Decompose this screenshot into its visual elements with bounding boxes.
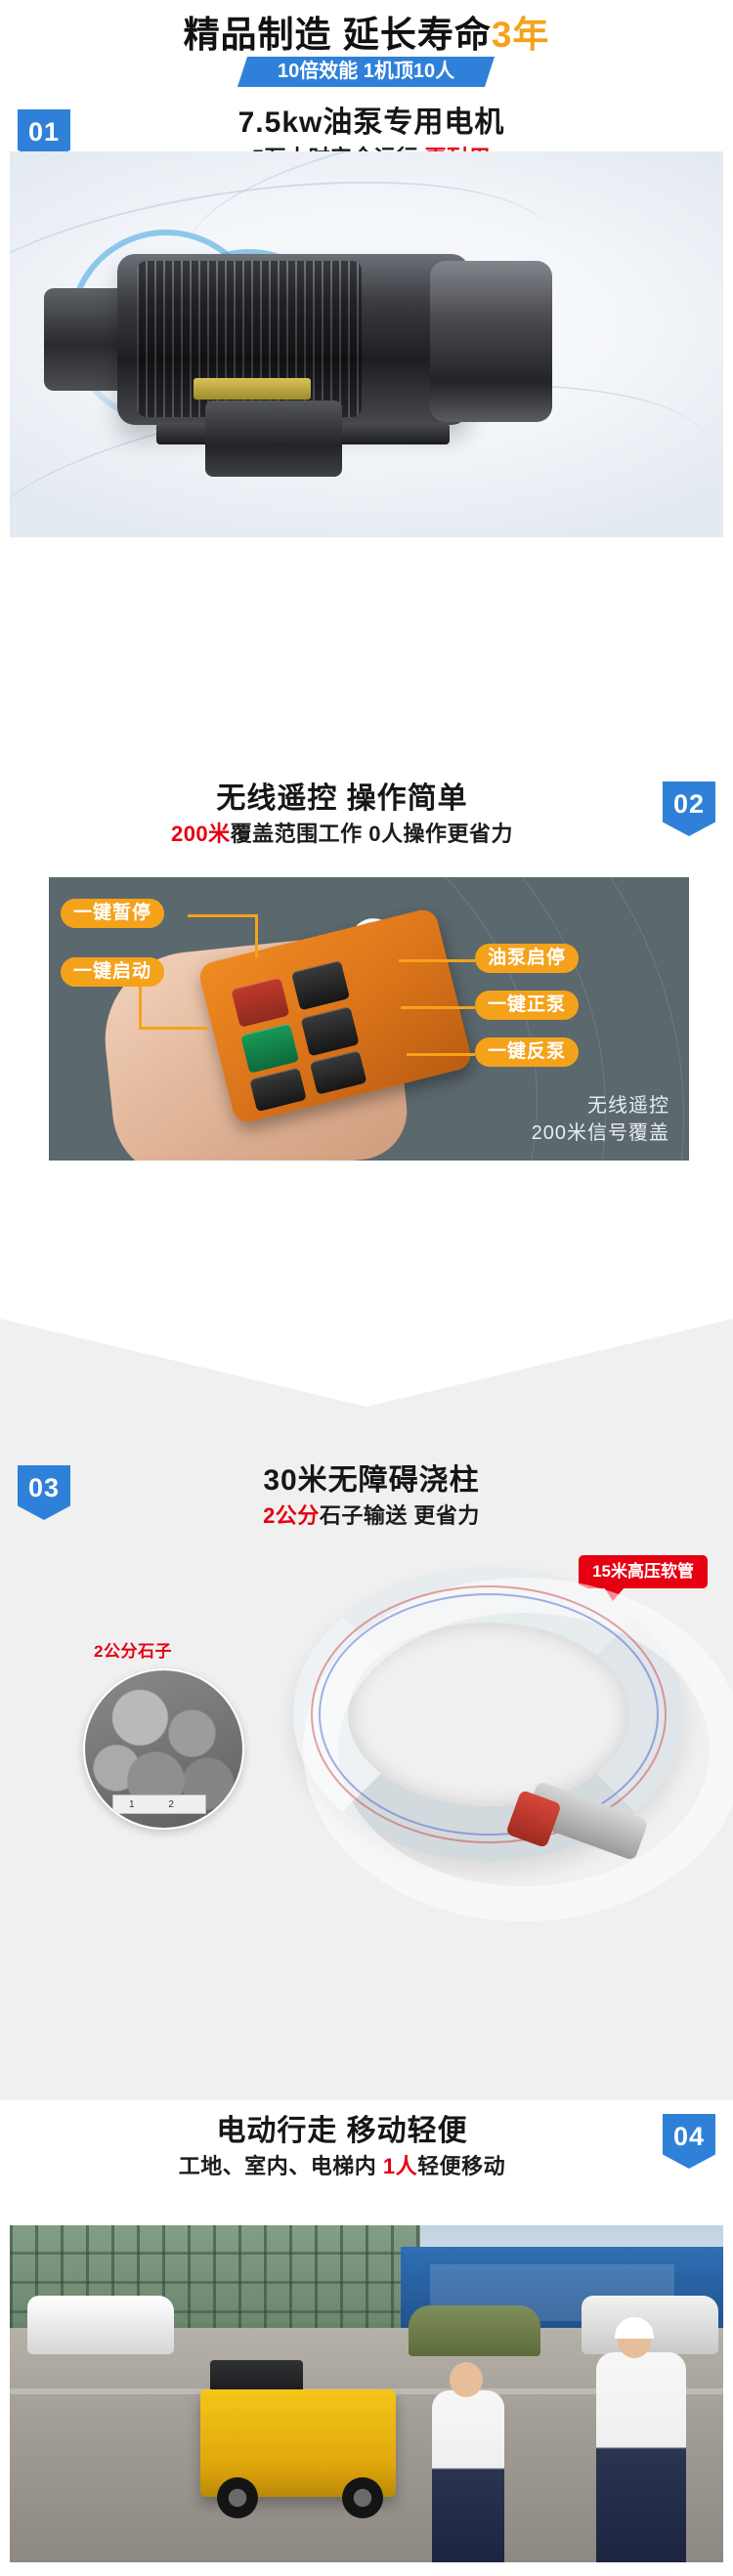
hero-title-main: 精品制造 延长寿命 bbox=[184, 15, 492, 55]
callout-start: 一键启动 bbox=[61, 957, 164, 987]
callout-lead-right-1 bbox=[399, 959, 475, 962]
machine-wheel-left bbox=[217, 2477, 258, 2518]
remote-key-stop[interactable] bbox=[231, 977, 289, 1027]
section-03-subtitle-normal: 石子输送 更省力 bbox=[320, 1503, 480, 1528]
section-03-hose: 03 30米无障碍浇柱 2公分石子输送 更省力 15米高压软管 2公分石子 1 … bbox=[0, 1319, 733, 2100]
section-03-badge: 03 bbox=[18, 1465, 70, 1520]
section-03-subtitle: 2公分石子输送 更省力 bbox=[108, 1500, 635, 1532]
hose-stripe-blue bbox=[319, 1593, 659, 1836]
section-02-heading: 无线遥控 操作简单 200米覆盖范围工作 0人操作更省力 bbox=[59, 780, 625, 850]
hero-ribbon-wrap: 10倍效能 1机顶10人 bbox=[0, 57, 733, 87]
remote-key-spare-1[interactable] bbox=[249, 1068, 307, 1113]
section-04-badge: 04 bbox=[663, 2114, 715, 2169]
product-detail-page: 精品制造 延长寿命3年 10倍效能 1机顶10人 01 7.5kw油泵专用电机 … bbox=[0, 0, 733, 2576]
hero-ribbon-label: 10倍效能 1机顶10人 bbox=[278, 57, 454, 87]
section-01-title: 7.5kw油泵专用电机 bbox=[108, 104, 635, 143]
section-04-heading: 电动行走 移动轻便 工地、室内、电梯内 1人轻便移动 bbox=[59, 2112, 625, 2182]
worker-center bbox=[432, 2390, 504, 2562]
callout-lead-right-3 bbox=[407, 1053, 475, 1056]
section-03-subtitle-red: 2公分 bbox=[263, 1503, 320, 1528]
section-02-remote: 02 无线遥控 操作简单 200米覆盖范围工作 0人操作更省力 bbox=[0, 772, 733, 1319]
section-01-motor: 01 7.5kw油泵专用电机 5万小时安全运行 更耐用 bbox=[0, 98, 733, 733]
chevron-divider bbox=[0, 1319, 733, 1407]
hero-ribbon: 10倍效能 1机顶10人 bbox=[237, 57, 495, 87]
section-04-title: 电动行走 移动轻便 bbox=[59, 2112, 625, 2151]
section-02-subtitle-red: 200米 bbox=[171, 822, 231, 846]
remote-note: 无线遥控 200米信号覆盖 bbox=[532, 1092, 669, 1147]
remote-key-forward[interactable] bbox=[301, 1006, 360, 1056]
hero-title: 精品制造 延长寿命3年 bbox=[0, 0, 733, 57]
motor-nameplate bbox=[194, 378, 311, 400]
callout-pump-toggle: 油泵启停 bbox=[475, 944, 579, 973]
section-02-subtitle-normal: 覆盖范围工作 0人操作更省力 bbox=[231, 822, 513, 846]
hose-length-callout: 15米高压软管 bbox=[579, 1555, 708, 1588]
remote-key-pump-toggle[interactable] bbox=[291, 960, 350, 1010]
callout-lead-left-1b bbox=[255, 914, 258, 957]
construction-site-photo bbox=[10, 2225, 723, 2562]
remote-note-line-2: 200米信号覆盖 bbox=[532, 1119, 669, 1147]
worker-right bbox=[596, 2352, 686, 2562]
section-02-title: 无线遥控 操作简单 bbox=[59, 780, 625, 819]
callout-forward-pump: 一键正泵 bbox=[475, 991, 579, 1020]
stone-ruler: 1 2 bbox=[112, 1795, 206, 1814]
remote-key-spare-2[interactable] bbox=[310, 1050, 367, 1095]
hero-title-highlight: 3年 bbox=[492, 15, 550, 55]
callout-pause: 一键暂停 bbox=[61, 899, 164, 928]
hose-photo: 15米高压软管 2公分石子 1 2 bbox=[0, 1543, 733, 1954]
section-03-title: 30米无障碍浇柱 bbox=[108, 1461, 635, 1500]
covered-vehicle-center bbox=[409, 2305, 540, 2356]
motor-photo bbox=[10, 151, 723, 537]
parked-van-left bbox=[27, 2296, 174, 2354]
callout-lead-left-1 bbox=[188, 914, 258, 917]
section-04-subtitle: 工地、室内、电梯内 1人轻便移动 bbox=[59, 2151, 625, 2182]
gravel-sample-photo: 1 2 bbox=[83, 1668, 244, 1830]
remote-note-line-1: 无线遥控 bbox=[532, 1092, 669, 1119]
callout-lead-right-2 bbox=[401, 1006, 475, 1009]
callout-lead-left-2b bbox=[139, 1027, 207, 1030]
remote-control-photo: 一键暂停 一键启动 油泵启停 一键正泵 一键反泵 无线遥控 200米信号覆盖 bbox=[49, 877, 689, 1161]
stone-size-label: 2公分石子 bbox=[94, 1637, 172, 1662]
hero-banner: 精品制造 延长寿命3年 10倍效能 1机顶10人 bbox=[0, 0, 733, 98]
section-03-heading: 30米无障碍浇柱 2公分石子输送 更省力 bbox=[108, 1461, 635, 1532]
motor-junction-box bbox=[205, 401, 342, 477]
worker-center-head bbox=[450, 2362, 483, 2397]
section-04-subtitle-normal-a: 工地、室内、电梯内 bbox=[179, 2154, 383, 2178]
motor-end-cap bbox=[430, 261, 552, 422]
section-04-subtitle-normal-b: 轻便移动 bbox=[417, 2154, 505, 2178]
section-04-subtitle-red: 1人 bbox=[383, 2154, 417, 2178]
section-04-mobility: 04 电动行走 移动轻便 工地、室内、电梯内 1人轻便移动 bbox=[0, 2100, 733, 2576]
callout-reverse-pump: 一键反泵 bbox=[475, 1037, 579, 1067]
section-02-badge: 02 bbox=[663, 781, 715, 836]
remote-key-start[interactable] bbox=[240, 1023, 299, 1073]
section-02-subtitle: 200米覆盖范围工作 0人操作更省力 bbox=[59, 819, 625, 850]
machine-wheel-right bbox=[342, 2477, 383, 2518]
